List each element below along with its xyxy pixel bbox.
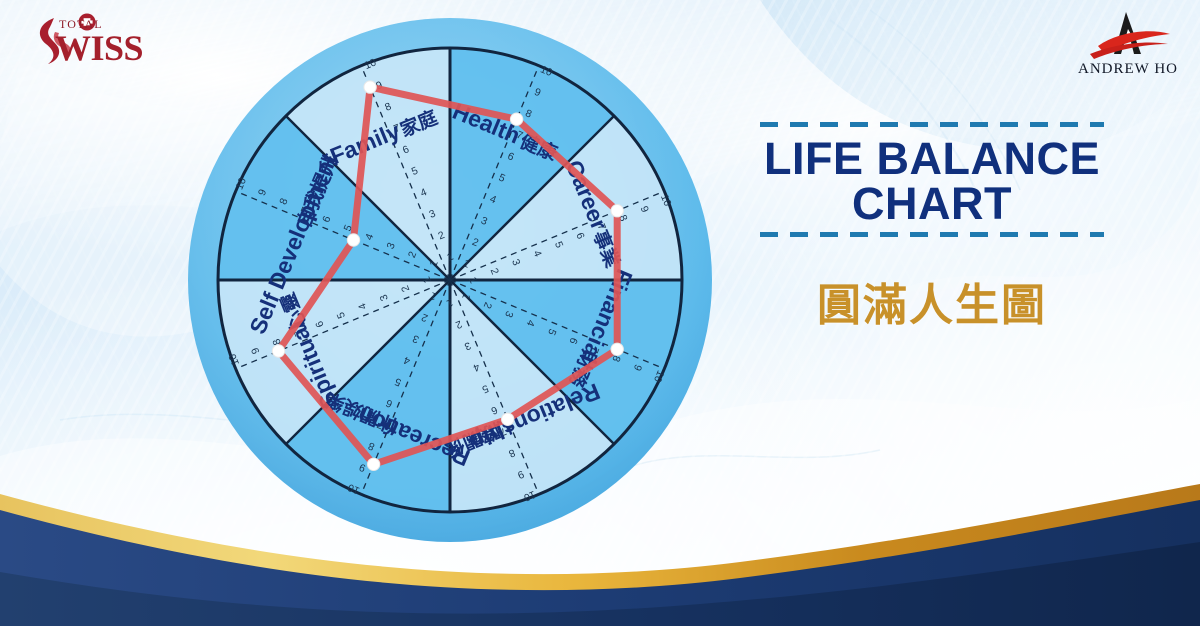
- life-balance-wheel[interactable]: 1234567891012345678910123456789101234567…: [180, 8, 720, 548]
- title-block: LIFE BALANCE CHART: [760, 122, 1104, 237]
- title-line-1: LIFE BALANCE: [764, 133, 1100, 184]
- title-rule-bottom: [760, 232, 1104, 237]
- score-point-recreation[interactable]: [367, 458, 379, 470]
- score-point-relationship[interactable]: [502, 413, 514, 425]
- score-point-family[interactable]: [364, 81, 376, 93]
- score-point-health[interactable]: [510, 113, 522, 125]
- score-point-career[interactable]: [611, 205, 623, 217]
- total-swiss-logo: TOTAL WISS: [22, 8, 162, 70]
- score-point-self-development[interactable]: [347, 234, 359, 246]
- score-point-spiritual[interactable]: [272, 345, 284, 357]
- title-line-2: CHART: [760, 181, 1104, 226]
- page-title: LIFE BALANCE CHART: [760, 127, 1104, 232]
- andrew-ho-wordmark: ANDREW HO: [1078, 61, 1178, 77]
- page-title-chinese: 圓滿人生圖: [760, 281, 1104, 331]
- total-swiss-wordmark: WISS: [55, 28, 143, 68]
- andrew-ho-logo: ANDREW HO: [1070, 6, 1186, 80]
- score-point-financial[interactable]: [611, 343, 623, 355]
- bottom-wave-decoration: [0, 476, 1200, 626]
